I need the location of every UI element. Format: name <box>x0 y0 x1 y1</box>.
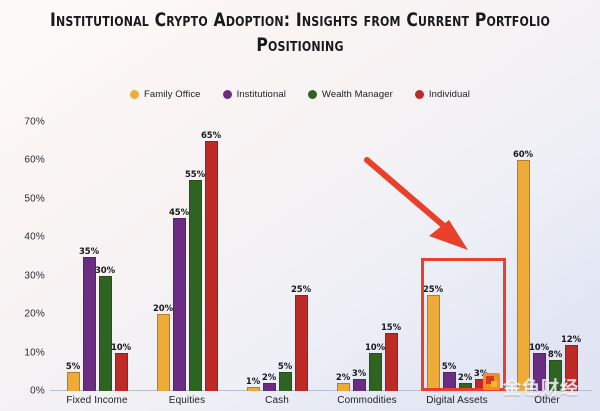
y-axis-tick-label: 40% <box>24 232 45 243</box>
y-axis-tick-label: 0% <box>30 386 45 397</box>
bar-value-label: 5% <box>278 362 292 372</box>
bar-equities-wealth-manager[interactable]: 55% <box>189 180 202 391</box>
legend-label: Wealth Manager <box>322 89 393 100</box>
bar-value-label: 15% <box>381 323 401 333</box>
bar-group-digital-assets: 25%5%2%3%Digital Assets <box>412 122 502 391</box>
bar-group-equities: 20%45%55%65%Equities <box>142 122 232 391</box>
bar-group-cash: 1%2%5%25%Cash <box>232 122 322 391</box>
bar-value-label: 5% <box>442 362 456 372</box>
bar-value-label: 10% <box>365 343 385 353</box>
bar-value-label: 45% <box>169 208 189 218</box>
legend-item-wealth-manager[interactable]: Wealth Manager <box>308 89 393 100</box>
legend-item-individual[interactable]: Individual <box>415 89 470 100</box>
bar-group-commodities: 2%3%10%15%Commodities <box>322 122 412 391</box>
bar-groups: 5%35%30%10%Fixed Income20%45%55%65%Equit… <box>52 122 592 391</box>
bar-commodities-institutional[interactable]: 3% <box>353 379 366 391</box>
x-axis-label-cash: Cash <box>265 395 289 406</box>
bar-fixed-income-institutional[interactable]: 35% <box>83 257 96 392</box>
chart-legend: Family OfficeInstitutionalWealth Manager… <box>0 89 600 100</box>
x-axis-label-commodities: Commodities <box>337 395 396 406</box>
bar-commodities-individual[interactable]: 15% <box>385 333 398 391</box>
bar-value-label: 2% <box>262 373 276 383</box>
legend-swatch-icon <box>223 90 232 99</box>
y-axis-tick-label: 30% <box>24 270 45 281</box>
bar-value-label: 35% <box>79 247 99 257</box>
legend-swatch-icon <box>130 90 139 99</box>
bar-value-label: 65% <box>201 131 221 141</box>
legend-swatch-icon <box>308 90 317 99</box>
bar-equities-family-office[interactable]: 20% <box>157 314 170 391</box>
bar-value-label: 30% <box>95 266 115 276</box>
jinse-finance-logo-icon <box>483 373 500 390</box>
bar-value-label: 10% <box>111 343 131 353</box>
bar-cash-individual[interactable]: 25% <box>295 295 308 391</box>
bar-value-label: 25% <box>423 285 443 295</box>
bar-value-label: 20% <box>153 304 173 314</box>
legend-item-family-office[interactable]: Family Office <box>130 89 201 100</box>
watermark-text: 金色财经 <box>503 374 579 400</box>
bar-value-label: 60% <box>513 150 533 160</box>
bar-commodities-wealth-manager[interactable]: 10% <box>369 353 382 391</box>
legend-label: Individual <box>429 89 470 100</box>
x-axis-label-equities: Equities <box>169 395 205 406</box>
y-axis-tick-label: 20% <box>24 309 45 320</box>
bar-other-family-office[interactable]: 60% <box>517 160 530 391</box>
bar-group-other: 60%10%8%12%Other <box>502 122 592 391</box>
legend-item-institutional[interactable]: Institutional <box>223 89 286 100</box>
legend-label: Family Office <box>144 89 201 100</box>
bar-fixed-income-wealth-manager[interactable]: 30% <box>99 276 112 391</box>
bar-digital-assets-wealth-manager[interactable]: 2% <box>459 383 472 391</box>
plot-area: 0%10%20%30%40%50%60%70% 5%35%30%10%Fixed… <box>52 122 592 391</box>
bar-fixed-income-family-office[interactable]: 5% <box>67 372 80 391</box>
y-axis-tick-label: 70% <box>24 117 45 128</box>
bar-equities-institutional[interactable]: 45% <box>173 218 186 391</box>
y-axis-tick-label: 60% <box>24 155 45 166</box>
bar-value-label: 8% <box>548 350 562 360</box>
bar-value-label: 3% <box>352 369 366 379</box>
bar-value-label: 10% <box>529 343 549 353</box>
bar-cash-wealth-manager[interactable]: 5% <box>279 372 292 391</box>
x-axis-label-digital-assets: Digital Assets <box>426 395 487 406</box>
chart-title: Institutional Crypto Adoption: Insights … <box>46 8 554 58</box>
bar-value-label: 55% <box>185 170 205 180</box>
bar-cash-family-office[interactable]: 1% <box>247 387 260 391</box>
bar-commodities-family-office[interactable]: 2% <box>337 383 350 391</box>
bar-value-label: 2% <box>336 373 350 383</box>
bar-value-label: 2% <box>458 373 472 383</box>
bar-digital-assets-family-office[interactable]: 25% <box>427 295 440 391</box>
x-axis-label-fixed-income: Fixed Income <box>66 395 127 406</box>
bar-value-label: 1% <box>246 377 260 387</box>
bar-value-label: 12% <box>561 335 581 345</box>
bar-group-fixed-income: 5%35%30%10%Fixed Income <box>52 122 142 391</box>
chart-canvas: Institutional Crypto Adoption: Insights … <box>0 0 600 411</box>
bar-digital-assets-institutional[interactable]: 5% <box>443 372 456 391</box>
bar-fixed-income-individual[interactable]: 10% <box>115 353 128 391</box>
y-axis-tick-label: 50% <box>24 193 45 204</box>
bar-equities-individual[interactable]: 65% <box>205 141 218 391</box>
bar-cash-institutional[interactable]: 2% <box>263 383 276 391</box>
y-axis-tick-label: 10% <box>24 347 45 358</box>
legend-swatch-icon <box>415 90 424 99</box>
bar-value-label: 5% <box>66 362 80 372</box>
bar-value-label: 25% <box>291 285 311 295</box>
legend-label: Institutional <box>237 89 286 100</box>
